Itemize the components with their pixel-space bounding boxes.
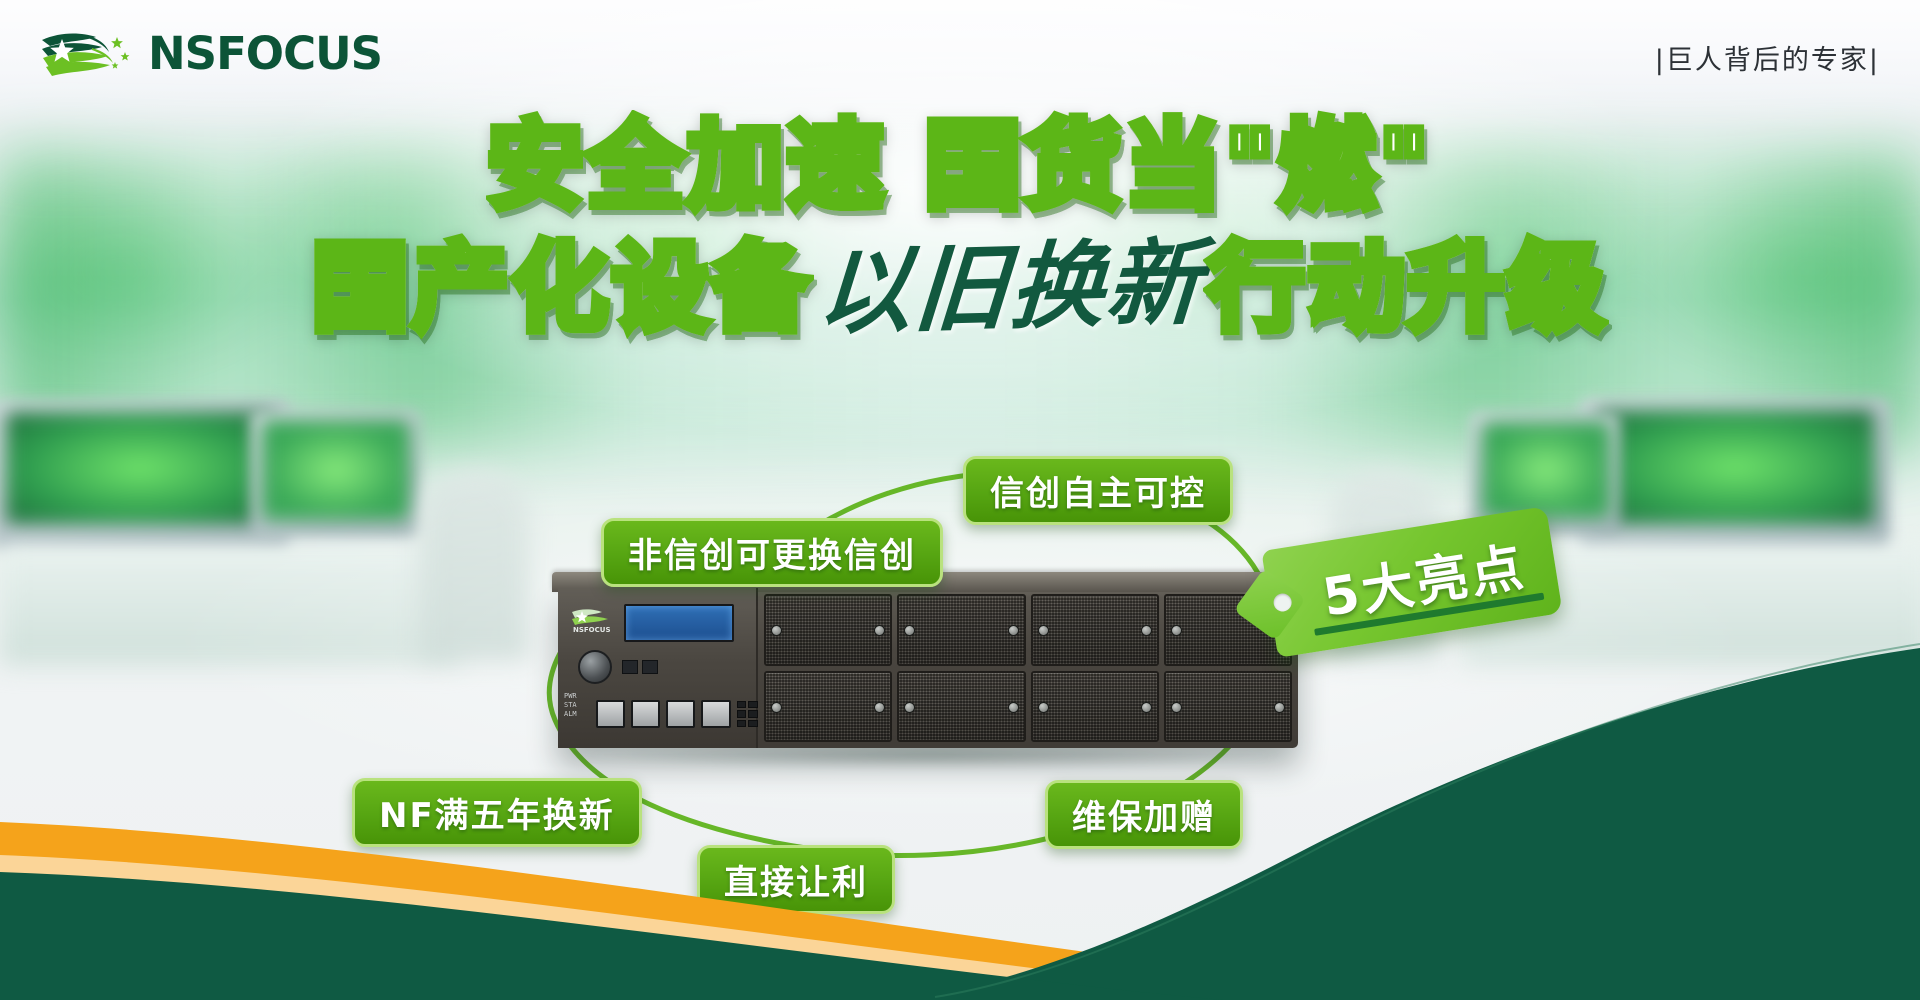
server-front-logo-icon: NSFOCUS (570, 606, 618, 634)
brand-logo[interactable]: NSFOCUS (40, 28, 382, 78)
wave-dark-green-right (900, 648, 1920, 1000)
brand-logo-text: NSFOCUS (148, 31, 382, 76)
svg-text:NSFOCUS: NSFOCUS (573, 626, 611, 634)
server-lcd-display (624, 604, 734, 642)
tag-hole-punch (1272, 592, 1293, 613)
badge-label: 非信创可更换信创 (628, 528, 916, 577)
badge-label: 信创自主可控 (990, 466, 1206, 515)
banner-root: NSFOCUS |巨人背后的专家| 安全加速 国货当"燃" 国产化设备以旧换新行… (0, 0, 1920, 1000)
highlight-count-tag-label: 5大亮点 (1317, 524, 1531, 636)
badge-non-xinchuang-replace[interactable]: 非信创可更换信创 (601, 518, 943, 587)
nsfocus-flag-star-logo-icon (40, 28, 136, 78)
brand-tagline: |巨人背后的专家| (1655, 38, 1880, 77)
badge-xinchuang-autonomous[interactable]: 信创自主可控 (963, 456, 1233, 525)
bottom-wave-decoration (0, 640, 1920, 1000)
